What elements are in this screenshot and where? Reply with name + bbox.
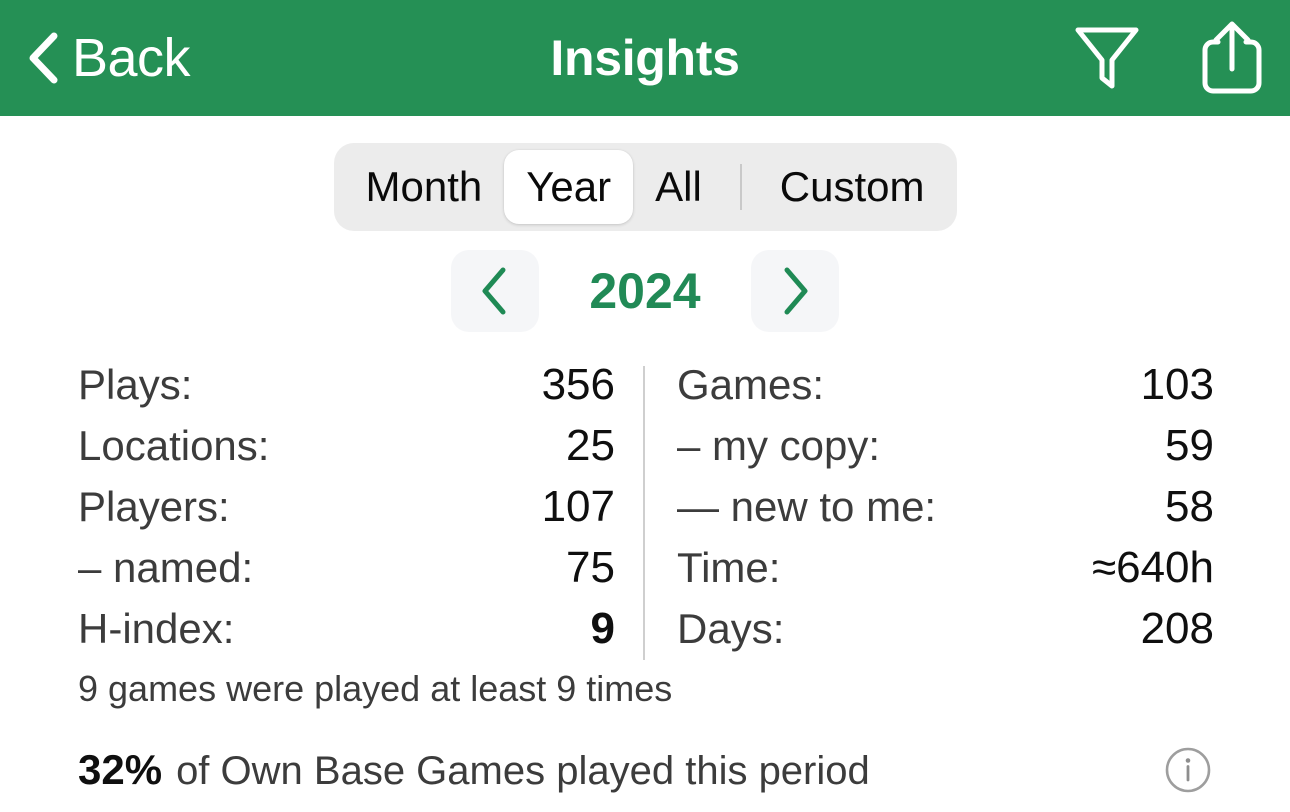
stat-row: H-index: 9 — [78, 604, 615, 665]
own-base-games-info-button[interactable] — [1164, 746, 1212, 794]
stat-label: Days: — [677, 605, 784, 653]
statistics-column-left: Plays: 356 Locations: 25 Players: 107 – … — [0, 360, 643, 665]
own-base-games-description: of Own Base Games played this period — [176, 749, 870, 794]
stat-label: Time: — [677, 544, 780, 592]
stat-value: 75 — [566, 543, 615, 593]
chevron-left-icon — [26, 31, 60, 85]
own-base-games-percent: 32% — [78, 746, 162, 794]
stat-value: 25 — [566, 421, 615, 471]
stat-label: Players: — [78, 483, 230, 531]
stat-label: Plays: — [78, 361, 192, 409]
stat-row: Locations: 25 — [78, 421, 615, 482]
insights-screen: Back Insights Month Year All — [0, 0, 1290, 812]
navbar-actions — [1004, 19, 1264, 97]
navigation-bar: Back Insights — [0, 0, 1290, 116]
stat-value: 58 — [1165, 482, 1214, 532]
stat-value: 103 — [1141, 360, 1214, 410]
stat-label: – my copy: — [677, 422, 880, 470]
own-base-games-row: 32% of Own Base Games played this period — [78, 746, 1212, 794]
stat-row: Games: 103 — [677, 360, 1214, 421]
stat-row: Days: 208 — [677, 604, 1214, 665]
stat-label: Locations: — [78, 422, 269, 470]
stat-label: Games: — [677, 361, 824, 409]
stat-value: 9 — [591, 604, 615, 654]
stat-row: Plays: 356 — [78, 360, 615, 421]
own-base-games-text: 32% of Own Base Games played this period — [78, 746, 870, 794]
next-period-button[interactable] — [751, 250, 839, 332]
share-button[interactable] — [1200, 19, 1264, 97]
period-label: 2024 — [539, 262, 751, 320]
stat-row: – named: 75 — [78, 543, 615, 604]
statistics-column-right: Games: 103 – my copy: 59 — new to me: 58… — [645, 360, 1290, 665]
statistics-grid: Plays: 356 Locations: 25 Players: 107 – … — [0, 360, 1290, 665]
chevron-right-icon — [778, 266, 812, 316]
chevron-left-icon — [478, 266, 512, 316]
stat-row: – my copy: 59 — [677, 421, 1214, 482]
stat-label: H-index: — [78, 605, 234, 653]
range-selector: Month Year All Custom — [334, 143, 957, 231]
stat-row: Players: 107 — [78, 482, 615, 543]
previous-period-button[interactable] — [451, 250, 539, 332]
hindex-note: 9 games were played at least 9 times — [78, 668, 672, 710]
info-circle-icon — [1164, 746, 1212, 794]
stat-label: – named: — [78, 544, 253, 592]
segment-divider — [740, 164, 742, 210]
period-navigator: 2024 — [0, 250, 1290, 332]
stat-value: ≈640h — [1092, 543, 1214, 593]
stat-value: 208 — [1141, 604, 1214, 654]
stat-label: — new to me: — [677, 483, 936, 531]
segment-all[interactable]: All — [633, 150, 724, 224]
stat-row: Time: ≈640h — [677, 543, 1214, 604]
segment-custom[interactable]: Custom — [758, 150, 947, 224]
filter-button[interactable] — [1074, 24, 1140, 92]
range-selector-wrap: Month Year All Custom — [0, 143, 1290, 231]
stat-value: 356 — [542, 360, 615, 410]
stat-value: 59 — [1165, 421, 1214, 471]
stat-value: 107 — [542, 482, 615, 532]
share-export-icon — [1200, 19, 1264, 97]
back-button[interactable]: Back — [26, 31, 286, 85]
segment-month[interactable]: Month — [344, 150, 505, 224]
filter-funnel-icon — [1074, 24, 1140, 92]
segment-year[interactable]: Year — [504, 150, 633, 224]
stat-row: — new to me: 58 — [677, 482, 1214, 543]
back-label: Back — [72, 31, 190, 85]
